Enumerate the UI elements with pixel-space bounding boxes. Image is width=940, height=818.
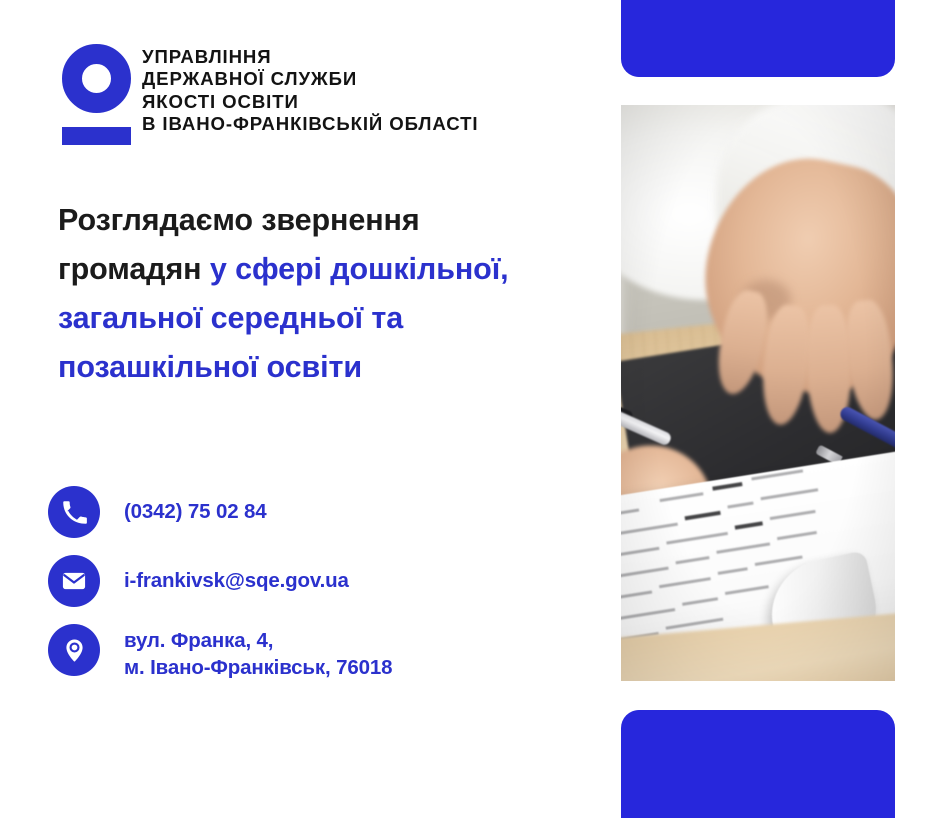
organization-logo: УПРАВЛІННЯ ДЕРЖАВНОЇ СЛУЖБИ ЯКОСТІ ОСВІТ… xyxy=(62,44,532,150)
left-content-column: УПРАВЛІННЯ ДЕРЖАВНОЇ СЛУЖБИ ЯКОСТІ ОСВІТ… xyxy=(0,0,600,788)
photo-document-signing xyxy=(621,105,895,681)
email-icon xyxy=(48,555,100,607)
contact-address-value: вул. Франка, 4, м. Івано-Франківськ, 760… xyxy=(124,624,392,681)
logo-line-4: В ІВАНО-ФРАНКІВСЬКІЙ ОБЛАСТІ xyxy=(142,113,532,135)
logo-bar-shape xyxy=(62,127,131,145)
contact-phone-value: (0342) 75 02 84 xyxy=(124,486,267,525)
logo-mark-icon xyxy=(62,44,131,145)
bottom-blue-block xyxy=(621,710,895,818)
logo-line-3: ЯКОСТІ ОСВІТИ xyxy=(142,91,532,113)
logo-line-1: УПРАВЛІННЯ xyxy=(142,46,532,68)
headline: Розглядаємо звернення громадян у сфері д… xyxy=(58,196,558,392)
contact-row-address[interactable]: вул. Франка, 4, м. Івано-Франківськ, 760… xyxy=(48,624,568,681)
top-blue-block xyxy=(621,0,895,77)
logo-wordmark: УПРАВЛІННЯ ДЕРЖАВНОЇ СЛУЖБИ ЯКОСТІ ОСВІТ… xyxy=(142,46,532,135)
contact-row-email[interactable]: i-frankivsk@sqe.gov.ua xyxy=(48,555,568,607)
logo-line-2: ДЕРЖАВНОЇ СЛУЖБИ xyxy=(142,68,532,90)
logo-ring-shape xyxy=(62,44,131,113)
photo-vignette xyxy=(621,105,895,681)
contact-list: (0342) 75 02 84 i-frankivsk@sqe.gov.ua xyxy=(48,486,568,681)
contact-email-value: i-frankivsk@sqe.gov.ua xyxy=(124,555,349,594)
photo-inner xyxy=(621,105,895,681)
right-decor-column xyxy=(621,0,895,788)
poster-canvas: УПРАВЛІННЯ ДЕРЖАВНОЇ СЛУЖБИ ЯКОСТІ ОСВІТ… xyxy=(0,0,940,788)
location-pin-icon xyxy=(48,624,100,676)
phone-icon xyxy=(48,486,100,538)
contact-row-phone[interactable]: (0342) 75 02 84 xyxy=(48,486,568,538)
